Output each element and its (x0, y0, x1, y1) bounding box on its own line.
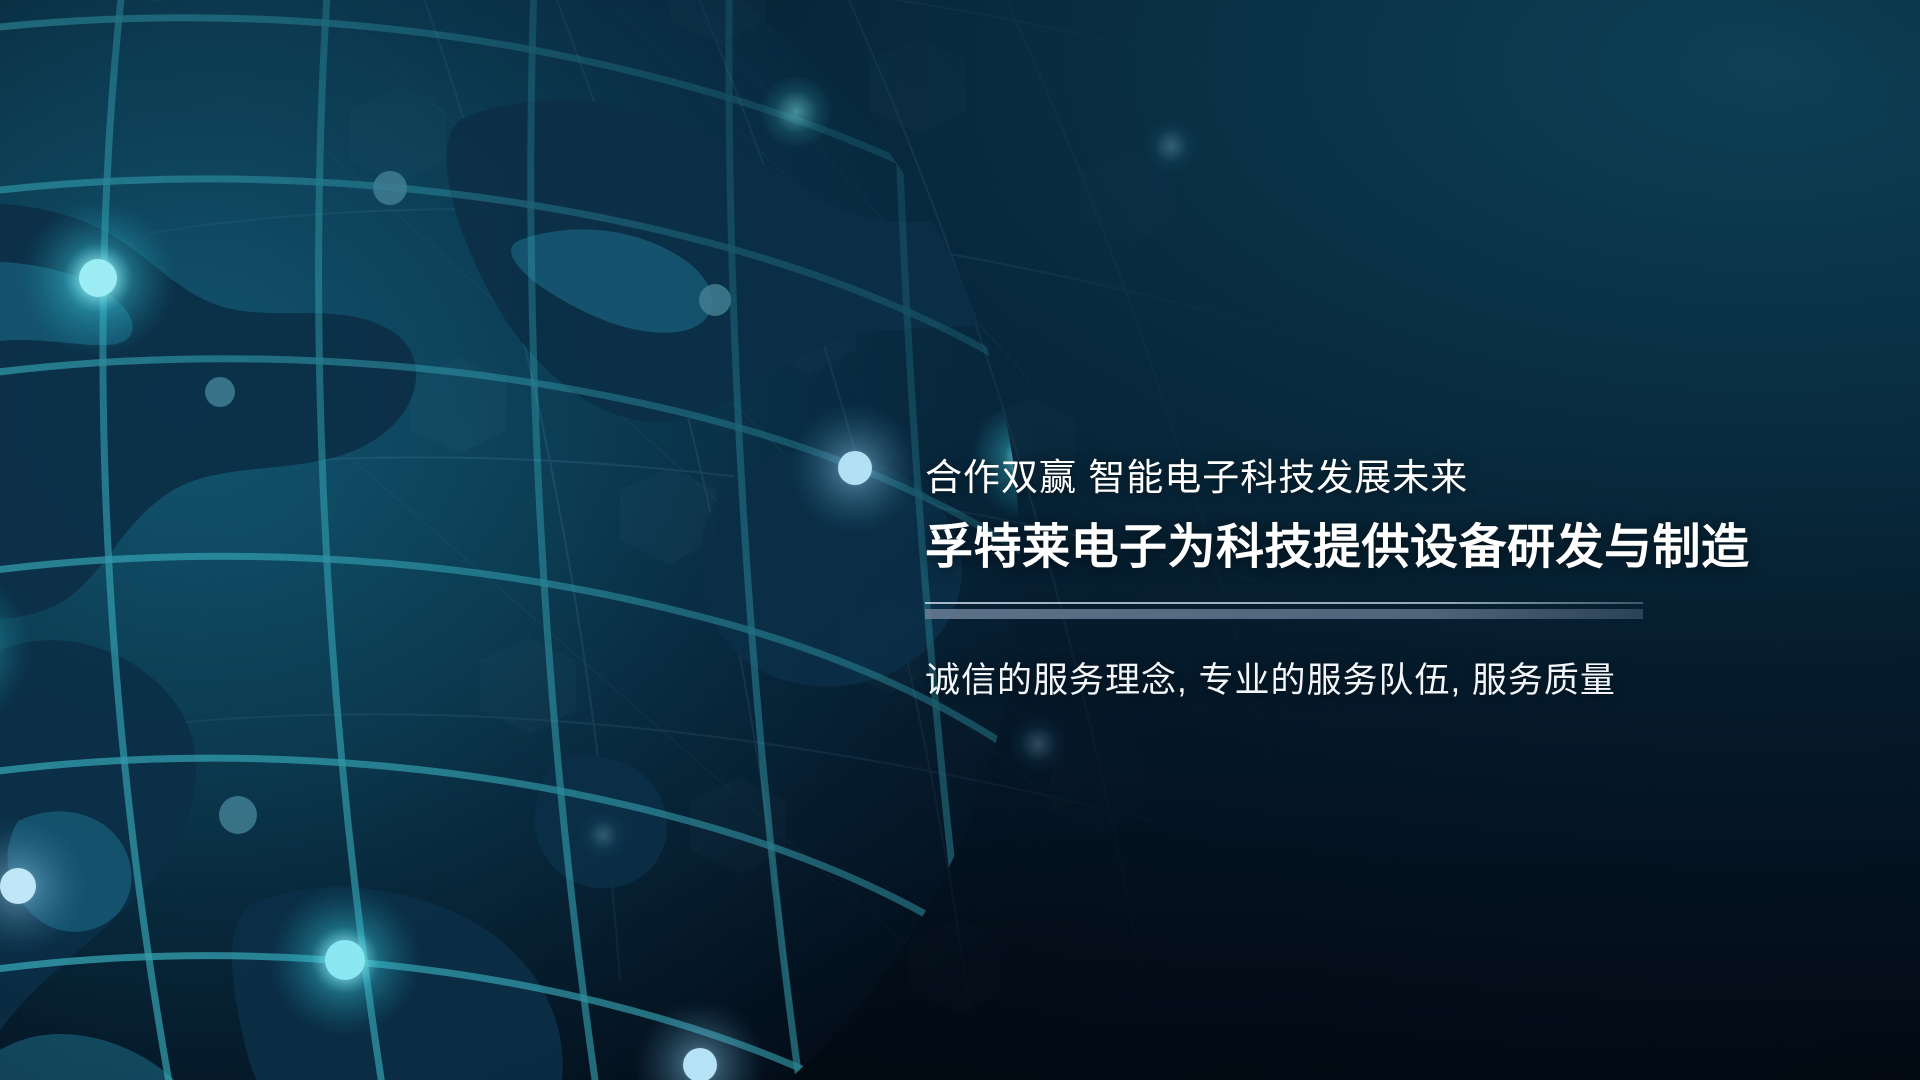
divider-thick-rule (925, 609, 1643, 619)
hero-copy-block: 合作双赢 智能电子科技发展未来 孚特莱电子为科技提供设备研发与制造 诚信的服务理… (925, 455, 1885, 703)
hero-banner: 合作双赢 智能电子科技发展未来 孚特莱电子为科技提供设备研发与制造 诚信的服务理… (0, 0, 1920, 1080)
hero-headline: 孚特莱电子为科技提供设备研发与制造 (925, 519, 1885, 578)
divider-thin-rule (925, 602, 1643, 604)
hero-divider (925, 602, 1643, 616)
hero-eyebrow: 合作双赢 智能电子科技发展未来 (925, 455, 1885, 501)
hero-tagline: 诚信的服务理念, 专业的服务队伍, 服务质量 (925, 658, 1885, 704)
